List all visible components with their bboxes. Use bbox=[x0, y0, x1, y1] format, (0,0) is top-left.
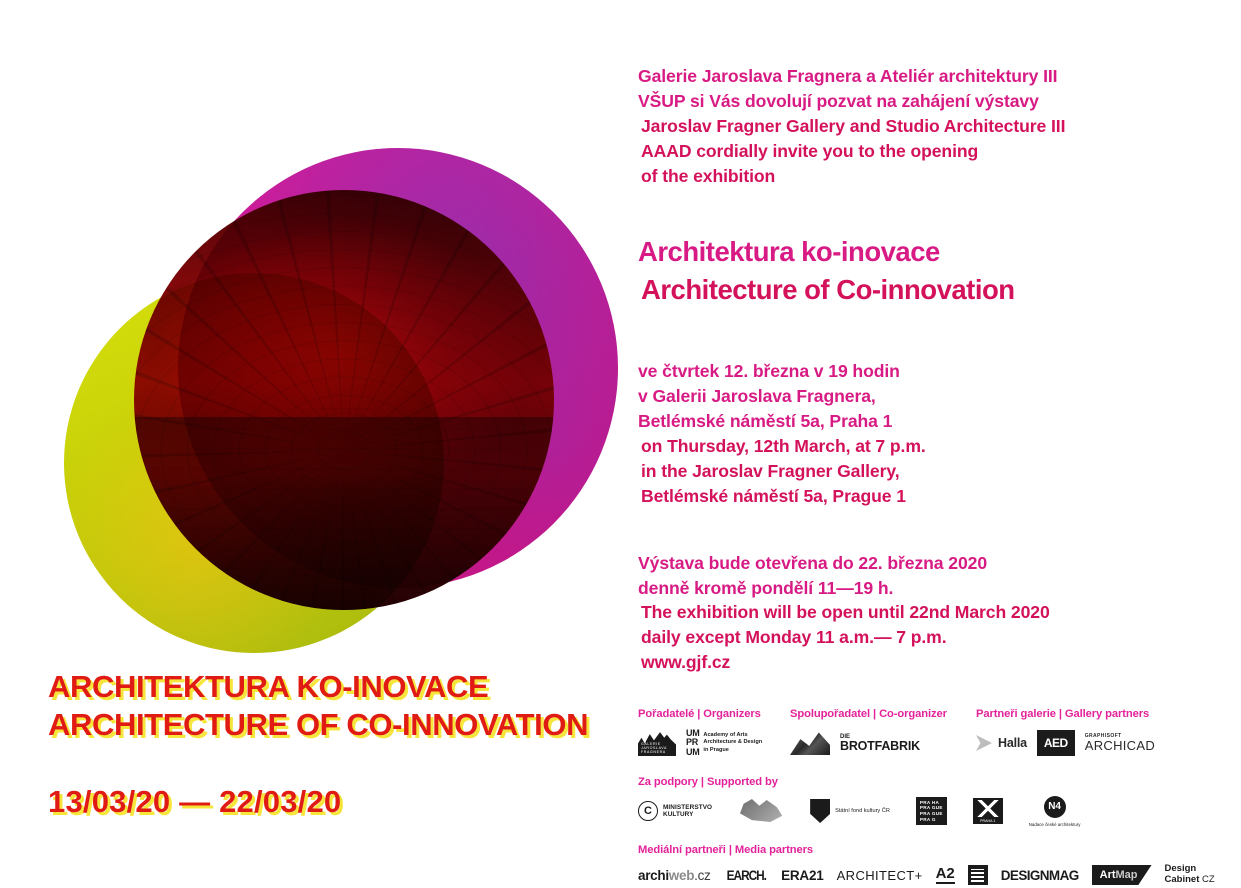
brotfabrik-wordmark: DIE BROTFABRIK bbox=[840, 734, 920, 753]
media-label: Mediální partneři | Media partners bbox=[638, 844, 1218, 856]
archicad-label: ARCHICAD bbox=[1085, 739, 1155, 753]
opening-en-line1: The exhibition will be open until 22nd M… bbox=[638, 600, 1053, 625]
coorganizer-group: Spolupořadatel | Co-organizer DIE BROTFA… bbox=[790, 708, 976, 760]
poster-dates: 13/03/20 — 22/03/20 bbox=[48, 784, 628, 820]
umprum-subtitle: Academy of Arts Architecture & Design in… bbox=[703, 732, 762, 753]
red-dome-circle bbox=[134, 190, 554, 610]
lion-shield-icon bbox=[810, 799, 830, 823]
invite-en-line3: of the exhibition bbox=[638, 164, 778, 189]
umprum-sub1: Academy of Arts bbox=[703, 732, 762, 739]
poster-title-block: ARCHITEKTURA KO-INOVACE ARCHITECTURE OF … bbox=[48, 668, 628, 820]
partners-row-1: Pořadatelé | Organizers GALERIE JAROSLAV… bbox=[638, 708, 1218, 760]
gallery-partners-group: Partneři galerie | Gallery partners Hall… bbox=[976, 708, 1155, 760]
archiweb-logo: archiweb.cz bbox=[638, 868, 711, 883]
halla-arrow-icon bbox=[976, 735, 992, 751]
archiweb-b: web bbox=[669, 868, 694, 883]
sfk-label: Státní fond kultury ČR bbox=[835, 808, 890, 814]
ministerstvo-kultury-logo: C MINISTERSTVO KULTURY bbox=[638, 801, 712, 821]
halla-label: Halla bbox=[998, 736, 1027, 750]
when-en-line2: in the Jaroslav Fragner Gallery, bbox=[638, 459, 903, 484]
artmap-a: Art bbox=[1100, 869, 1116, 881]
earch-logo: EARCH. bbox=[726, 868, 765, 883]
exhibition-title-en: Architecture of Co-innovation bbox=[638, 271, 1018, 309]
statni-fond-kultury-logo: Státní fond kultury ČR bbox=[810, 799, 890, 823]
supporters-group: Za podpory | Supported by C MINISTERSTVO… bbox=[638, 776, 1218, 828]
praha-1-logo: PRAHA 1 bbox=[973, 798, 1003, 824]
opening-cz-line1: Výstava bude otevřena do 22. března 2020 bbox=[638, 551, 1198, 576]
artmap-logo: ArtMap bbox=[1092, 865, 1152, 885]
architect-plus-logo: ARCHITECT+ bbox=[837, 868, 923, 883]
invite-en-line1: Jaroslav Fragner Gallery and Studio Arch… bbox=[638, 114, 1068, 139]
partners-footer: Pořadatelé | Organizers GALERIE JAROSLAV… bbox=[638, 708, 1218, 888]
exhibition-title-cz: Architektura ko-inovace bbox=[638, 233, 1198, 271]
na-mark-icon: N4 bbox=[1044, 796, 1066, 818]
gallery-partners-label: Partneři galerie | Gallery partners bbox=[976, 708, 1155, 720]
media-partners-group: Mediální partneři | Media partners archi… bbox=[638, 844, 1218, 888]
brotfabrik-main: BROTFABRIK bbox=[840, 740, 920, 753]
poster-canvas: ARCHITEKTURA KO-INOVACE ARCHITECTURE OF … bbox=[0, 0, 1241, 875]
exhibition-title-block: Architektura ko-inovace Architecture of … bbox=[638, 233, 1198, 309]
designmag-logo: DESIGNMAG bbox=[1001, 868, 1079, 883]
dc-line3: CZ bbox=[1202, 874, 1215, 885]
supported-label: Za podpory | Supported by bbox=[638, 776, 1218, 788]
organizers-logos: GALERIE JAROSLAVA FRAGNERA UMPRUM Academ… bbox=[638, 726, 790, 760]
umprum-sub3: in Prague bbox=[703, 747, 762, 754]
poster-title-cz: ARCHITEKTURA KO-INOVACE bbox=[48, 668, 628, 706]
aed-logo: AED bbox=[1037, 730, 1075, 756]
umprum-logo-icon: UMPRUM Academy of Arts Architecture & De… bbox=[686, 729, 762, 757]
artmap-b: Map bbox=[1116, 869, 1138, 881]
mk-ring-icon: C bbox=[638, 801, 658, 821]
when-cz-line1: ve čtvrtek 12. března v 19 hodin bbox=[638, 359, 1198, 384]
circles-artwork bbox=[60, 128, 560, 653]
when-en-line1: on Thursday, 12th March, at 7 p.m. bbox=[638, 434, 929, 459]
na-label: Nadace české architektury bbox=[1029, 822, 1081, 827]
a2-logo: A2 bbox=[936, 866, 955, 884]
mk-line2: KULTURY bbox=[663, 811, 712, 818]
coorganizer-label: Spolupořadatel | Co-organizer bbox=[790, 708, 976, 720]
website-link[interactable]: www.gjf.cz bbox=[638, 650, 733, 675]
opening-hours-block: Výstava bude otevřena do 22. března 2020… bbox=[638, 551, 1198, 676]
umprum-monogram: UMPRUM bbox=[686, 729, 699, 757]
when-en-line3: Betlémské náměstí 5a, Prague 1 bbox=[638, 484, 909, 509]
halla-logo: Halla bbox=[976, 735, 1027, 751]
gjf-logo-icon: GALERIE JAROSLAVA FRAGNERA bbox=[638, 730, 676, 756]
opening-cz-line2: denně kromě pondělí 11—19 h. bbox=[638, 576, 1198, 601]
umprum-sub2: Architecture & Design bbox=[703, 739, 762, 746]
invite-cz-line1: Galerie Jaroslava Fragnera a Ateliér arc… bbox=[638, 64, 1198, 89]
when-cz-line2: v Galerii Jaroslava Fragnera, bbox=[638, 384, 1198, 409]
dc-line2: Cabinet bbox=[1165, 874, 1200, 885]
invitation-block: Galerie Jaroslava Fragnera a Ateliér arc… bbox=[638, 64, 1198, 189]
hk-square-logo bbox=[968, 865, 988, 885]
archiweb-c: .cz bbox=[694, 868, 710, 883]
when-where-block: ve čtvrtek 12. března v 19 hodin v Galer… bbox=[638, 359, 1198, 509]
supporters-logos: C MINISTERSTVO KULTURY Státní fond kultu… bbox=[638, 794, 1218, 828]
media-partners-logos: archiweb.cz EARCH. ERA21 ARCHITECT+ A2 D… bbox=[638, 862, 1218, 888]
coorganizer-logos: DIE BROTFABRIK bbox=[790, 726, 976, 760]
right-text-column: Galerie Jaroslava Fragnera a Ateliér arc… bbox=[638, 64, 1198, 675]
mhmp-blob-logo bbox=[738, 799, 784, 823]
gallery-partners-logos: Halla AED GRAPHISOFT ARCHICAD bbox=[976, 726, 1155, 760]
opening-en-line2: daily except Monday 11 a.m.— 7 p.m. bbox=[638, 625, 949, 650]
era21-logo: ERA21 bbox=[781, 868, 824, 883]
brotfabrik-logo-icon bbox=[790, 731, 830, 755]
nadace-ceske-architektury-logo: N4 Nadace české architektury bbox=[1029, 796, 1081, 827]
when-cz-line3: Betlémské náměstí 5a, Praha 1 bbox=[638, 409, 1198, 434]
design-cabinet-logo: Design Cabinet CZ bbox=[1165, 864, 1215, 885]
mk-line1: MINISTERSTVO bbox=[663, 804, 712, 811]
archicad-logo: GRAPHISOFT ARCHICAD bbox=[1085, 734, 1155, 753]
invite-cz-line2: VŠUP si Vás dovolují pozvat na zahájení … bbox=[638, 89, 1198, 114]
poster-title-en: ARCHITECTURE OF CO-INNOVATION bbox=[48, 706, 628, 744]
praha-prague-prag-logo: PRA HAPRA GUEPRA GUEPRA G bbox=[916, 797, 947, 825]
mk-wordmark: MINISTERSTVO KULTURY bbox=[663, 804, 712, 819]
organizers-label: Pořadatelé | Organizers bbox=[638, 708, 790, 720]
invite-en-line2: AAAD cordially invite you to the opening bbox=[638, 139, 981, 164]
organizers-group: Pořadatelé | Organizers GALERIE JAROSLAV… bbox=[638, 708, 790, 760]
gjf-logo-caption: GALERIE JAROSLAVA FRAGNERA bbox=[641, 742, 676, 754]
archiweb-a: archi bbox=[638, 868, 669, 883]
